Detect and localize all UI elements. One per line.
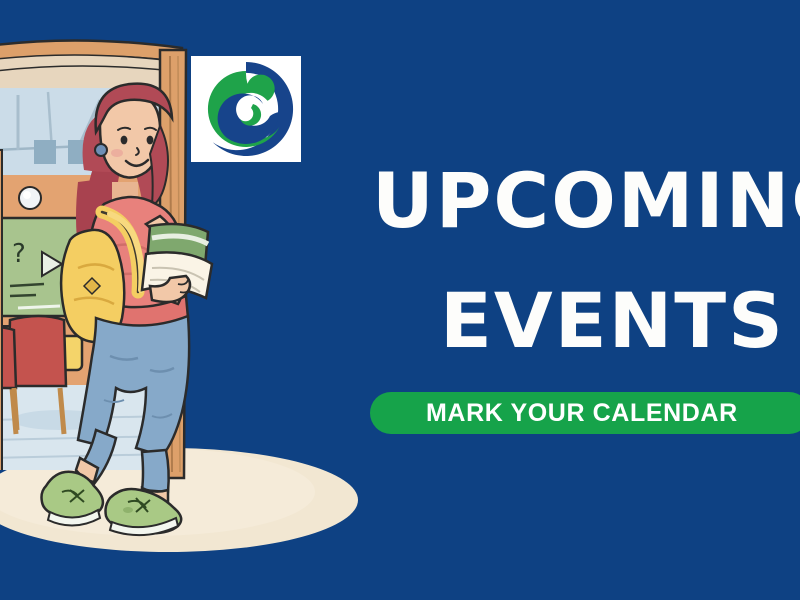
mark-your-calendar-ribbon: MARK YOUR CALENDAR	[370, 392, 800, 434]
cta-label: MARK YOUR CALENDAR	[426, 399, 738, 428]
page-title-line-2: EVENTS	[440, 283, 785, 359]
koru-spiral-icon	[191, 56, 301, 162]
student-illustration: ?	[0, 0, 380, 600]
upcoming-events-banner: ?	[0, 0, 800, 600]
page-title-line-1: UPCOMING	[372, 163, 800, 239]
koru-spiral-logo	[191, 56, 301, 162]
svg-text:?: ?	[12, 239, 26, 269]
